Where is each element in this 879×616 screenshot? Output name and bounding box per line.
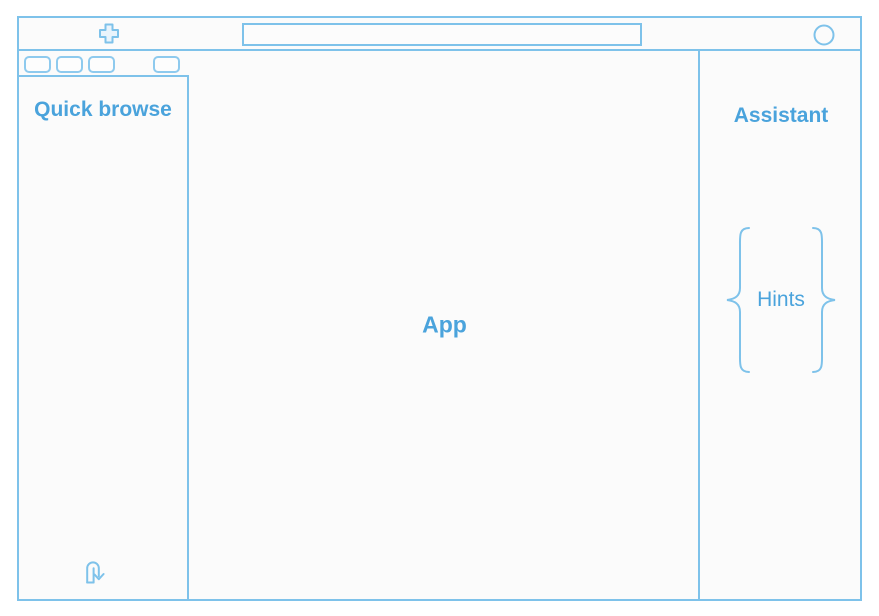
tab-chip-3[interactable]: [88, 56, 115, 73]
browser-toolbar: [19, 18, 860, 51]
tab-strip: [19, 51, 189, 77]
app-label: App: [191, 312, 698, 339]
tab-chip-1[interactable]: [24, 56, 51, 73]
wireframe-root: Quick browse App Assistant: [0, 0, 879, 616]
app-content-pane[interactable]: App: [191, 51, 700, 599]
sidebar-quick-browse: Quick browse: [19, 77, 189, 599]
hints-block: Hints: [702, 226, 860, 374]
hints-label: Hints: [751, 288, 811, 312]
tab-chip-overflow[interactable]: [153, 56, 180, 73]
assistant-panel: Assistant Hints: [702, 51, 860, 599]
assistant-title: Assistant: [702, 104, 860, 128]
sidebar-title: Quick browse: [19, 96, 187, 124]
right-curly-brace-icon: [811, 226, 837, 374]
browser-window-frame: Quick browse App Assistant: [17, 16, 862, 601]
address-input[interactable]: [242, 23, 642, 46]
u-turn-arrow-icon[interactable]: [83, 557, 110, 585]
tab-chip-2[interactable]: [56, 56, 83, 73]
circle-avatar-icon[interactable]: [813, 24, 835, 46]
plus-icon[interactable]: [97, 23, 121, 46]
left-curly-brace-icon: [725, 226, 751, 374]
